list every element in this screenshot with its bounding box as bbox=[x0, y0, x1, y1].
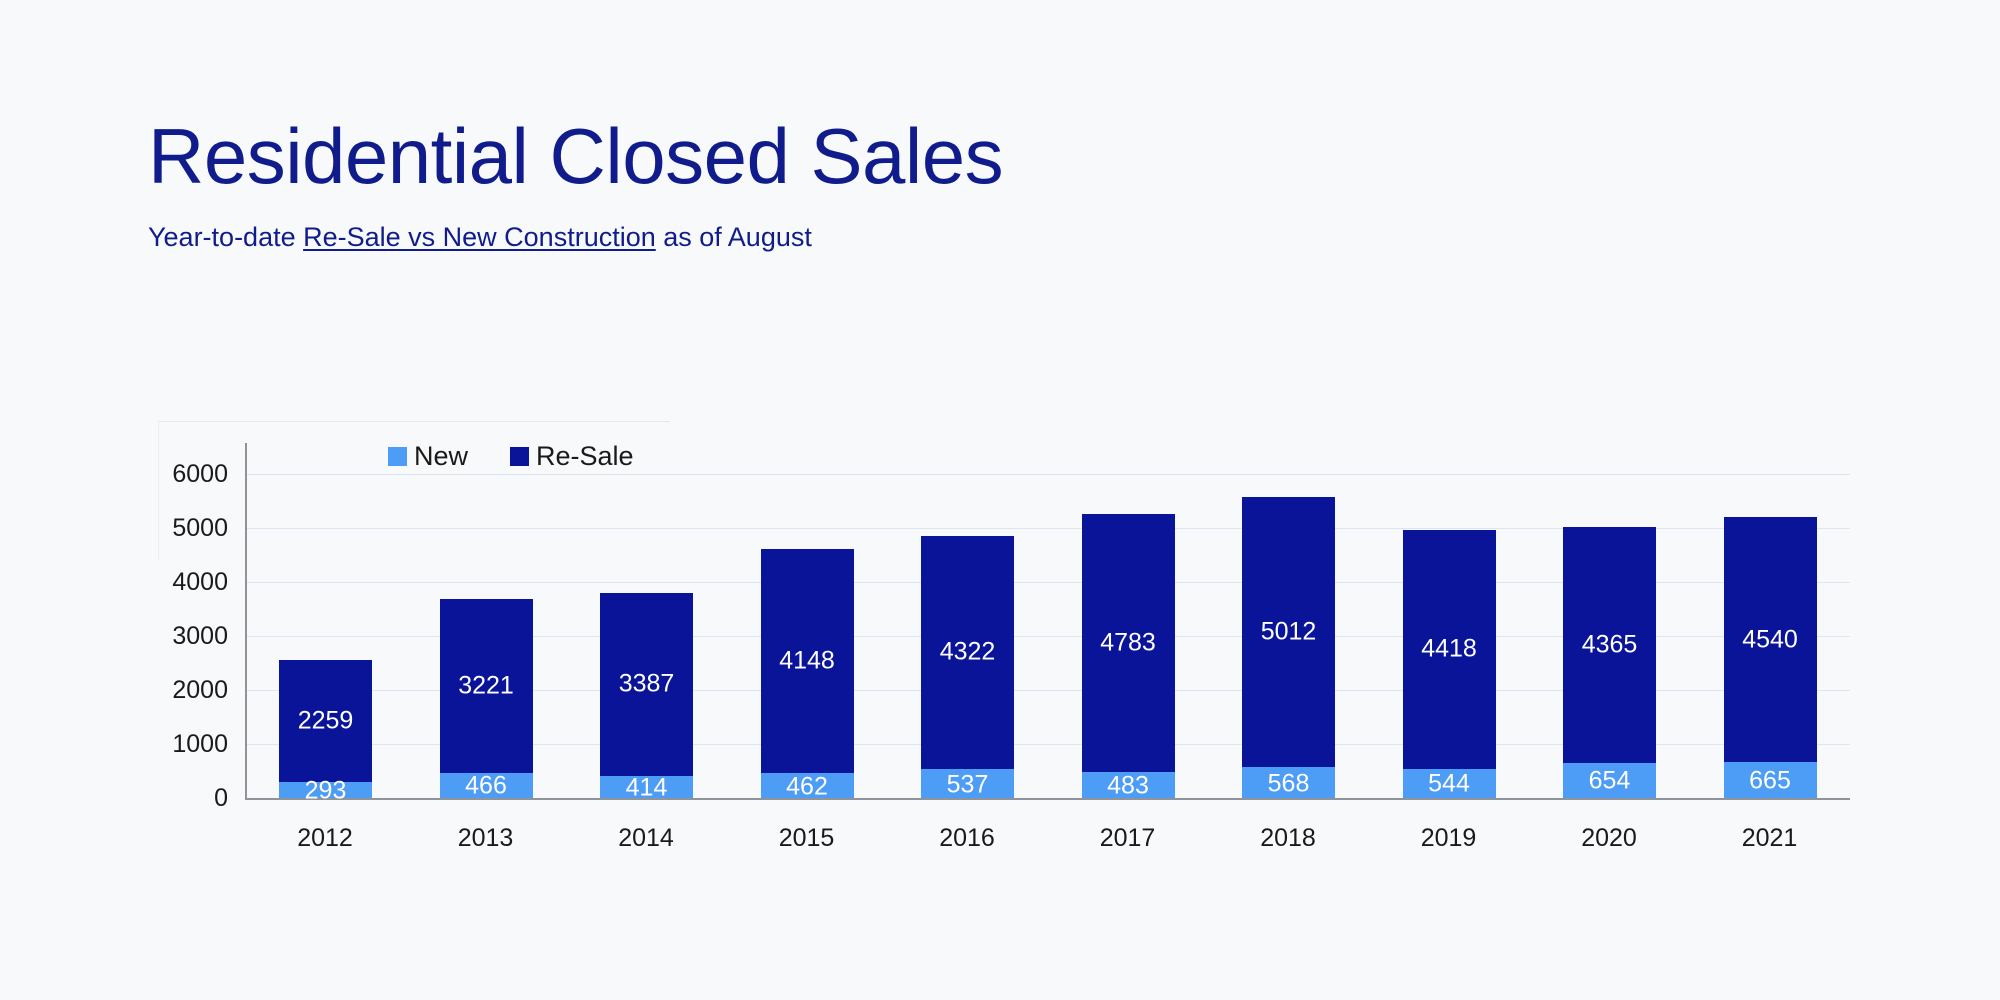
bar-value-label: 568 bbox=[1242, 771, 1335, 796]
bar-value-label: 544 bbox=[1403, 772, 1496, 797]
bar-value-label: 537 bbox=[921, 772, 1014, 797]
x-axis-tick-label: 2015 bbox=[727, 823, 887, 853]
y-axis-tick-label: 5000 bbox=[172, 516, 228, 541]
bar-stack[interactable]: 4783483 bbox=[1082, 514, 1175, 798]
bar-segment-new[interactable]: 544 bbox=[1403, 769, 1496, 798]
bar-value-label: 4322 bbox=[921, 640, 1014, 665]
bar-segment-new[interactable]: 568 bbox=[1242, 767, 1335, 798]
bar-stack[interactable]: 4148462 bbox=[761, 549, 854, 798]
bar-stack[interactable]: 4322537 bbox=[921, 536, 1014, 798]
bar-segment-resale[interactable]: 5012 bbox=[1242, 497, 1335, 768]
y-axis-tick-label: 2000 bbox=[172, 678, 228, 703]
bar-segment-new[interactable]: 414 bbox=[600, 776, 693, 798]
y-axis-tick-label: 1000 bbox=[172, 732, 228, 757]
square-swatch-icon bbox=[510, 447, 529, 466]
bar-value-label: 665 bbox=[1724, 769, 1817, 794]
bar-value-label: 414 bbox=[600, 775, 693, 800]
bar-stack[interactable]: 4365654 bbox=[1563, 527, 1656, 798]
bar-segment-new[interactable]: 654 bbox=[1563, 763, 1656, 798]
legend-item-label: Re-Sale bbox=[536, 443, 634, 470]
bar-value-label: 3387 bbox=[600, 672, 693, 697]
bar-segment-resale[interactable]: 4540 bbox=[1724, 517, 1817, 762]
plot-frame-top-border bbox=[158, 421, 670, 422]
bar-stack[interactable]: 3387414 bbox=[600, 593, 693, 798]
bar-segment-new[interactable]: 483 bbox=[1082, 772, 1175, 798]
bar-value-label: 654 bbox=[1563, 769, 1656, 794]
bar-value-label: 3221 bbox=[440, 673, 533, 698]
x-axis-tick-label: 2020 bbox=[1529, 823, 1689, 853]
bar-segment-resale[interactable]: 3387 bbox=[600, 593, 693, 776]
bar-value-label: 483 bbox=[1082, 773, 1175, 798]
bar-value-label: 4540 bbox=[1724, 627, 1817, 652]
bar-segment-resale[interactable]: 4418 bbox=[1403, 530, 1496, 769]
legend-item-label: New bbox=[414, 443, 468, 470]
x-axis-tick-label: 2013 bbox=[406, 823, 566, 853]
bar-segment-resale[interactable]: 4322 bbox=[921, 536, 1014, 769]
x-axis-tick-label: 2017 bbox=[1048, 823, 1208, 853]
x-axis-tick-label: 2016 bbox=[887, 823, 1047, 853]
plot-frame-left-border bbox=[158, 421, 159, 561]
x-axis-tick-label: 2019 bbox=[1369, 823, 1529, 853]
bar-value-label: 4148 bbox=[761, 649, 854, 674]
bar-value-label: 2259 bbox=[279, 709, 372, 734]
x-axis-tick-label: 2018 bbox=[1208, 823, 1368, 853]
legend-item-new[interactable]: New bbox=[388, 443, 468, 470]
bar-segment-new[interactable]: 466 bbox=[440, 773, 533, 798]
bar-stack[interactable]: 3221466 bbox=[440, 599, 533, 798]
y-axis-tick-label: 6000 bbox=[172, 462, 228, 487]
bar-value-label: 4365 bbox=[1563, 632, 1656, 657]
bar-segment-resale[interactable]: 2259 bbox=[279, 660, 372, 782]
legend-item-resale[interactable]: Re-Sale bbox=[510, 443, 634, 470]
stacked-bar-chart: 0100020003000400050006000 20122013201420… bbox=[0, 0, 2000, 1000]
bar-stack[interactable]: 5012568 bbox=[1242, 497, 1335, 798]
chart-legend: New Re-Sale bbox=[388, 443, 634, 470]
bar-segment-resale[interactable]: 4783 bbox=[1082, 514, 1175, 772]
x-axis-tick-label: 2014 bbox=[566, 823, 726, 853]
bar-segment-resale[interactable]: 4365 bbox=[1563, 527, 1656, 763]
x-axis-tick-label: 2021 bbox=[1690, 823, 1850, 853]
y-axis-line bbox=[245, 443, 247, 798]
bar-segment-new[interactable]: 537 bbox=[921, 769, 1014, 798]
y-axis-tick-label: 4000 bbox=[172, 570, 228, 595]
bar-value-label: 4783 bbox=[1082, 630, 1175, 655]
bar-segment-resale[interactable]: 3221 bbox=[440, 599, 533, 773]
y-axis-tick-label: 0 bbox=[214, 786, 228, 811]
bar-value-label: 4418 bbox=[1403, 637, 1496, 662]
bar-value-label: 5012 bbox=[1242, 620, 1335, 645]
y-axis-tick-label: 3000 bbox=[172, 624, 228, 649]
bar-stack[interactable]: 4540665 bbox=[1724, 517, 1817, 798]
x-axis-tick-label: 2012 bbox=[245, 823, 405, 853]
bar-value-label: 293 bbox=[279, 779, 372, 804]
gridline bbox=[247, 474, 1850, 475]
bar-segment-new[interactable]: 665 bbox=[1724, 762, 1817, 798]
bar-value-label: 466 bbox=[440, 774, 533, 799]
bar-segment-new[interactable]: 293 bbox=[279, 782, 372, 798]
square-swatch-icon bbox=[388, 447, 407, 466]
bar-segment-resale[interactable]: 4148 bbox=[761, 549, 854, 773]
bar-segment-new[interactable]: 462 bbox=[761, 773, 854, 798]
bar-stack[interactable]: 2259293 bbox=[279, 660, 372, 798]
bar-stack[interactable]: 4418544 bbox=[1403, 530, 1496, 798]
bar-value-label: 462 bbox=[761, 774, 854, 799]
